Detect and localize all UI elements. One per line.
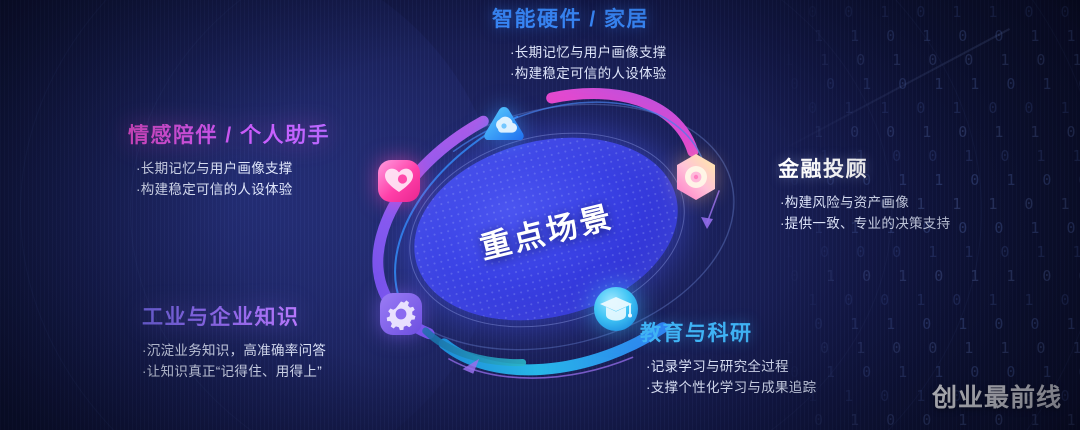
block-industrial-knowledge: 工业与企业知识 ·沉淀业务知识，高准确率问答 ·让知识真正“记得住、用得上” <box>142 306 326 382</box>
heading-emotional-companion: 情感陪伴 / 个人助手 <box>128 124 330 147</box>
heading-smart-hardware: 智能硬件 / 家居 <box>492 8 667 31</box>
infographic-canvas: 1 0 0 1 0 1 1 0 0 10 1 1 0 1 0 0 1 1 01 … <box>0 0 1080 430</box>
binary-row: 1 0 1 1 0 1 0 0 1 1 <box>780 96 1080 120</box>
bullet-item: ·提供一致、专业的决策支持 <box>778 213 950 234</box>
block-emotional-companion: 情感陪伴 / 个人助手 ·长期记忆与用户画像支撑 ·构建稳定可信的人设体验 <box>128 124 330 200</box>
gear-icon <box>377 290 425 338</box>
bullet-item: ·让知识真正“记得住、用得上” <box>142 361 326 382</box>
bullet-item: ·沉淀业务知识，高准确率问答 <box>142 340 326 361</box>
badge-education-research[interactable] <box>590 283 642 335</box>
heading-financial-advisory: 金融投顾 <box>778 158 950 181</box>
bullets-financial-advisory: ·构建风险与资产画像 ·提供一致、专业的决策支持 <box>778 192 950 234</box>
block-financial-advisory: 金融投顾 ·构建风险与资产画像 ·提供一致、专业的决策支持 <box>778 158 950 234</box>
decorative-diagonal-line <box>780 28 1011 152</box>
badge-financial-advisory[interactable] <box>670 151 722 205</box>
badge-emotional-companion[interactable] <box>375 157 423 205</box>
binary-row: 0 1 1 0 1 0 0 1 1 0 <box>780 24 1080 48</box>
bullets-emotional-companion: ·长期记忆与用户画像支撑 ·构建稳定可信的人设体验 <box>128 158 330 200</box>
binary-row: 0 1 0 0 1 0 1 1 0 1 <box>780 120 1080 144</box>
bullet-item: ·支撑个性化学习与成果追踪 <box>640 377 816 398</box>
block-education-research: 教育与科研 ·记录学习与研究全过程 ·支撑个性化学习与成果追踪 <box>640 322 816 398</box>
bullet-item: ·构建风险与资产画像 <box>778 192 950 213</box>
binary-row: 1 0 0 0 1 1 0 1 1 0 <box>784 240 1080 264</box>
heart-icon <box>375 157 423 205</box>
bullet-item: ·构建稳定可信的人设体验 <box>492 63 667 84</box>
binary-row: 0 1 0 1 0 1 1 0 0 1 <box>790 264 1080 288</box>
bullets-education-research: ·记录学习与研究全过程 ·支撑个性化学习与成果追踪 <box>640 356 816 398</box>
block-smart-hardware: 智能硬件 / 家居 ·长期记忆与用户画像支撑 ·构建稳定可信的人设体验 <box>492 8 667 84</box>
binary-row: 1 0 1 0 0 1 1 0 1 0 <box>784 336 1080 360</box>
bullet-item: ·长期记忆与用户画像支撑 <box>492 42 667 63</box>
watermark: 创业最前线 <box>932 378 1062 414</box>
bullet-item: ·记录学习与研究全过程 <box>640 356 816 377</box>
binary-row: 1 1 0 1 0 0 1 0 1 1 <box>784 48 1080 72</box>
bullets-industrial-knowledge: ·沉淀业务知识，高准确率问答 ·让知识真正“记得住、用得上” <box>142 340 326 382</box>
bullets-smart-hardware: ·长期记忆与用户画像支撑 ·构建稳定可信的人设体验 <box>492 42 667 84</box>
heading-education-research: 教育与科研 <box>640 322 816 345</box>
binary-row: 1 1 0 0 1 0 1 1 0 0 <box>780 288 1080 312</box>
heading-industrial-knowledge: 工业与企业知识 <box>142 306 326 329</box>
graduation-cap-icon <box>590 283 642 335</box>
bullet-item: ·长期记忆与用户画像支撑 <box>128 158 330 179</box>
central-diagram: 重点场景 <box>355 95 755 360</box>
cloud-icon <box>479 103 529 149</box>
badge-smart-hardware[interactable] <box>479 103 529 149</box>
bullet-item: ·构建稳定可信的人设体验 <box>128 179 330 200</box>
badge-industrial-knowledge[interactable] <box>377 290 425 338</box>
binary-row: 0 0 1 1 0 1 0 0 1 1 <box>780 312 1080 336</box>
coin-icon <box>670 151 722 205</box>
binary-row: 1 0 0 1 0 1 1 0 0 1 <box>780 0 1080 24</box>
binary-row: 0 0 1 0 1 1 0 1 0 0 <box>790 72 1080 96</box>
